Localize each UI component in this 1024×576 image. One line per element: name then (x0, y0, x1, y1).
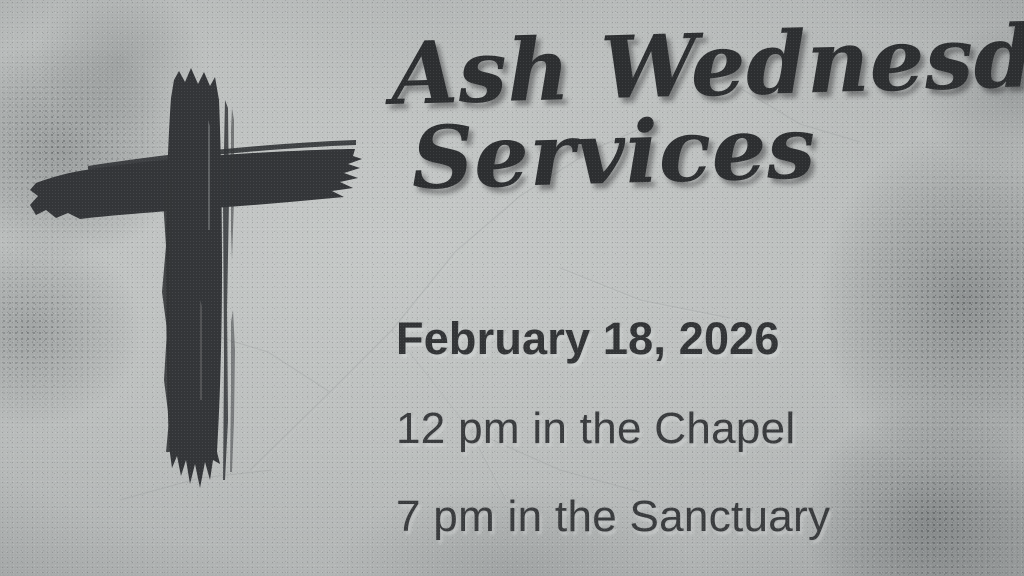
ash-wednesday-service-poster: Ash Wednesday Services February 18, 2026… (0, 0, 1024, 576)
headline-line-2: Services (410, 101, 1019, 200)
page-title: Ash Wednesday Services (390, 17, 1019, 201)
service-time-sanctuary: 7 pm in the Sanctuary (396, 492, 830, 542)
service-date: February 18, 2026 (396, 313, 780, 365)
service-time-chapel: 12 pm in the Chapel (396, 404, 796, 454)
poster-text-column: Ash Wednesday Services February 18, 2026… (0, 0, 1024, 576)
